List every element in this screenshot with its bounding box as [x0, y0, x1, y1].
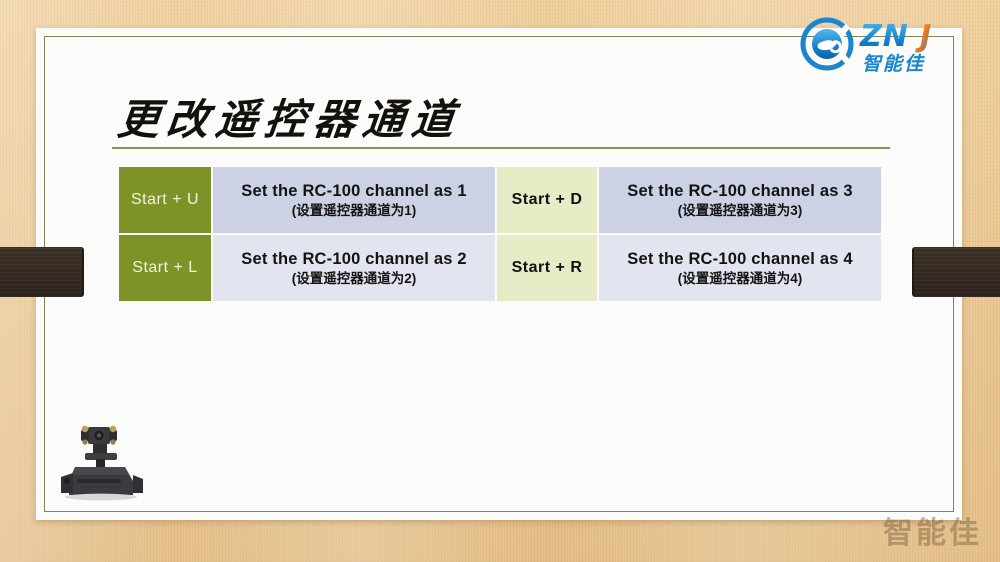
table-row: Start + L Set the RC-100 channel as 2 (设… [119, 235, 881, 301]
decorative-ribbon-left [0, 247, 84, 297]
brand-logo: ZN J 智能佳 [794, 14, 990, 76]
channel-description-3-cn: (设置遥控器通道为3) [599, 202, 881, 220]
key-combo-start-d: Start + D [497, 167, 597, 233]
channel-description-3-en: Set the RC-100 channel as 3 [599, 181, 881, 201]
logo-subtext: 智能佳 [862, 53, 925, 75]
key-combo-start-l: Start + L [119, 235, 211, 301]
channel-description-2-en: Set the RC-100 channel as 2 [213, 249, 495, 269]
table-row: Start + U Set the RC-100 channel as 1 (设… [119, 167, 881, 233]
channel-description-1-cn: (设置遥控器通道为1) [213, 202, 495, 220]
svg-text:J: J [915, 19, 931, 54]
svg-text:ZN: ZN [859, 19, 909, 54]
robot-device-photo [55, 415, 147, 507]
channel-description-3: Set the RC-100 channel as 3 (设置遥控器通道为3) [599, 167, 881, 233]
key-combo-start-u: Start + U [119, 167, 211, 233]
channel-description-4-cn: (设置遥控器通道为4) [599, 270, 881, 288]
page-title: 更改遥控器通道 [115, 86, 464, 147]
logo-wordmark: ZN J [859, 19, 931, 54]
channel-description-1: Set the RC-100 channel as 1 (设置遥控器通道为1) [213, 167, 495, 233]
decorative-ribbon-right [912, 247, 1000, 297]
channel-description-2: Set the RC-100 channel as 2 (设置遥控器通道为2) [213, 235, 495, 301]
logo-emblem [803, 20, 851, 70]
key-combo-start-r: Start + R [497, 235, 597, 301]
title-divider [112, 147, 890, 149]
channel-description-1-en: Set the RC-100 channel as 1 [213, 181, 495, 201]
brand-watermark: 智能佳 [883, 508, 982, 552]
channel-description-4-en: Set the RC-100 channel as 4 [599, 249, 881, 269]
channel-description-4: Set the RC-100 channel as 4 (设置遥控器通道为4) [599, 235, 881, 301]
channel-description-2-cn: (设置遥控器通道为2) [213, 270, 495, 288]
rc-channel-table: Start + U Set the RC-100 channel as 1 (设… [117, 165, 883, 303]
